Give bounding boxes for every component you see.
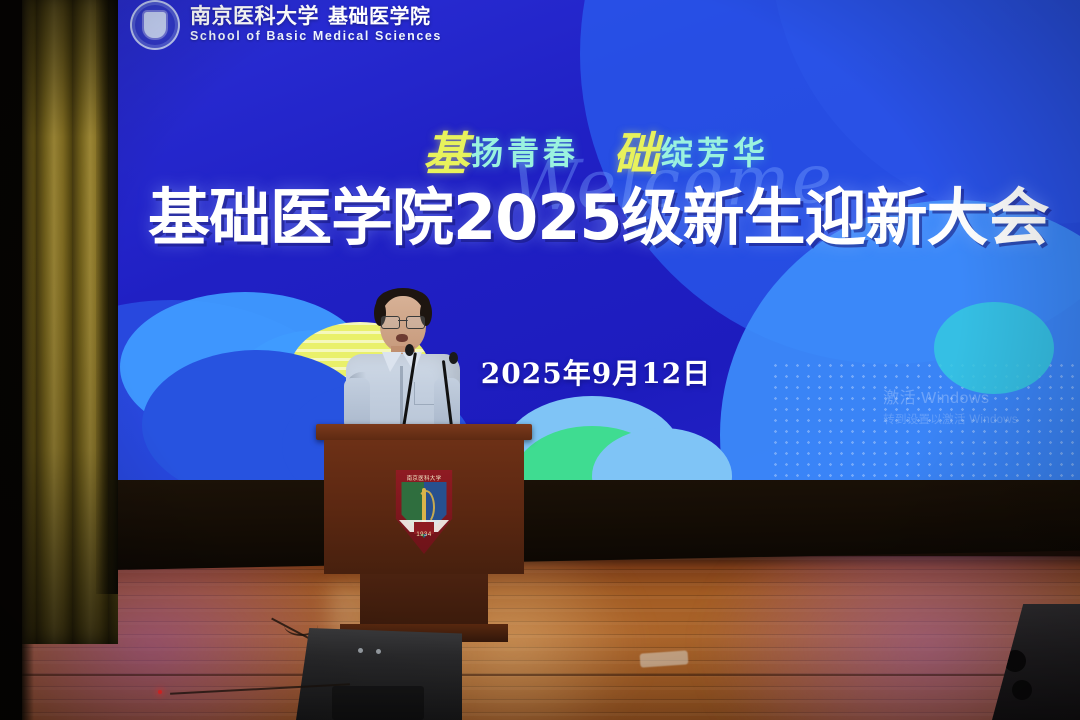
university-name-cn: 南京医科大学: [190, 5, 319, 28]
podium-top: [316, 424, 532, 440]
windows-activation-watermark: 激活 Windows 转到设置以激活 Windows: [883, 384, 1018, 427]
presenter-sleeve-left: [344, 378, 370, 430]
speaker-led-1: [358, 648, 363, 653]
red-laser-dot: [158, 690, 162, 694]
microphone-head-2: [449, 352, 458, 364]
school-name-en: School of Basic Medical Sciences: [190, 30, 442, 43]
stage-floor: [0, 556, 1080, 720]
glasses-lens-left: [381, 316, 400, 329]
speaker-led-2: [376, 649, 381, 654]
glasses-icon: [381, 316, 425, 327]
crest-university-name: 南京医科大学: [392, 474, 456, 482]
stage-wing-dark: [0, 0, 22, 720]
university-name-cn-line: 南京医科大学基础医学院: [190, 6, 442, 28]
university-name-block: 南京医科大学基础医学院 School of Basic Medical Scie…: [190, 6, 442, 43]
presenter-shirt-pocket: [414, 382, 436, 405]
university-crest-icon: 南京医科大学 1934: [392, 470, 456, 554]
stage-monitor-speaker-left: [296, 628, 462, 720]
glasses-lens-right: [406, 316, 425, 329]
floor-seam: [0, 674, 1080, 676]
slogan-text-2: 绽芳华: [661, 135, 769, 171]
led-backdrop-screen: 南京医科大学基础医学院 School of Basic Medical Scie…: [112, 0, 1080, 480]
microphone-head-1: [405, 344, 414, 356]
slogan-text-1: 扬青春: [471, 135, 579, 171]
event-title: 基础医学院2025级新生迎新大会: [148, 184, 1080, 252]
seal-inner-shape: [144, 12, 166, 38]
university-header-lockup: 南京医科大学基础医学院 School of Basic Medical Scie…: [130, 0, 442, 50]
presenter-mouth: [396, 334, 408, 342]
speaker-driver-2: [1012, 680, 1032, 700]
windows-activation-line1: 激活 Windows: [883, 384, 1018, 408]
windows-activation-line2: 转到设置以激活 Windows: [883, 411, 1018, 427]
slogan-brush-char-2: 础: [613, 127, 659, 181]
speaker-grill-left: [332, 686, 424, 720]
podium-column: [360, 574, 488, 630]
university-seal-icon: [130, 0, 180, 50]
slogan-brush-char-1: 基: [423, 127, 469, 181]
stage-photo-scene: 南京医科大学基础医学院 School of Basic Medical Scie…: [0, 0, 1080, 720]
presenter-figure: [336, 286, 466, 446]
curtain-right-edge-shadow: [96, 0, 118, 594]
slogan-line: 基扬青春础绽芳华: [112, 118, 1080, 184]
crest-snake: [417, 490, 435, 524]
school-name-cn: 基础医学院: [328, 6, 431, 28]
crest-year: 1934: [392, 532, 456, 538]
podium: 南京医科大学 1934: [316, 424, 532, 646]
